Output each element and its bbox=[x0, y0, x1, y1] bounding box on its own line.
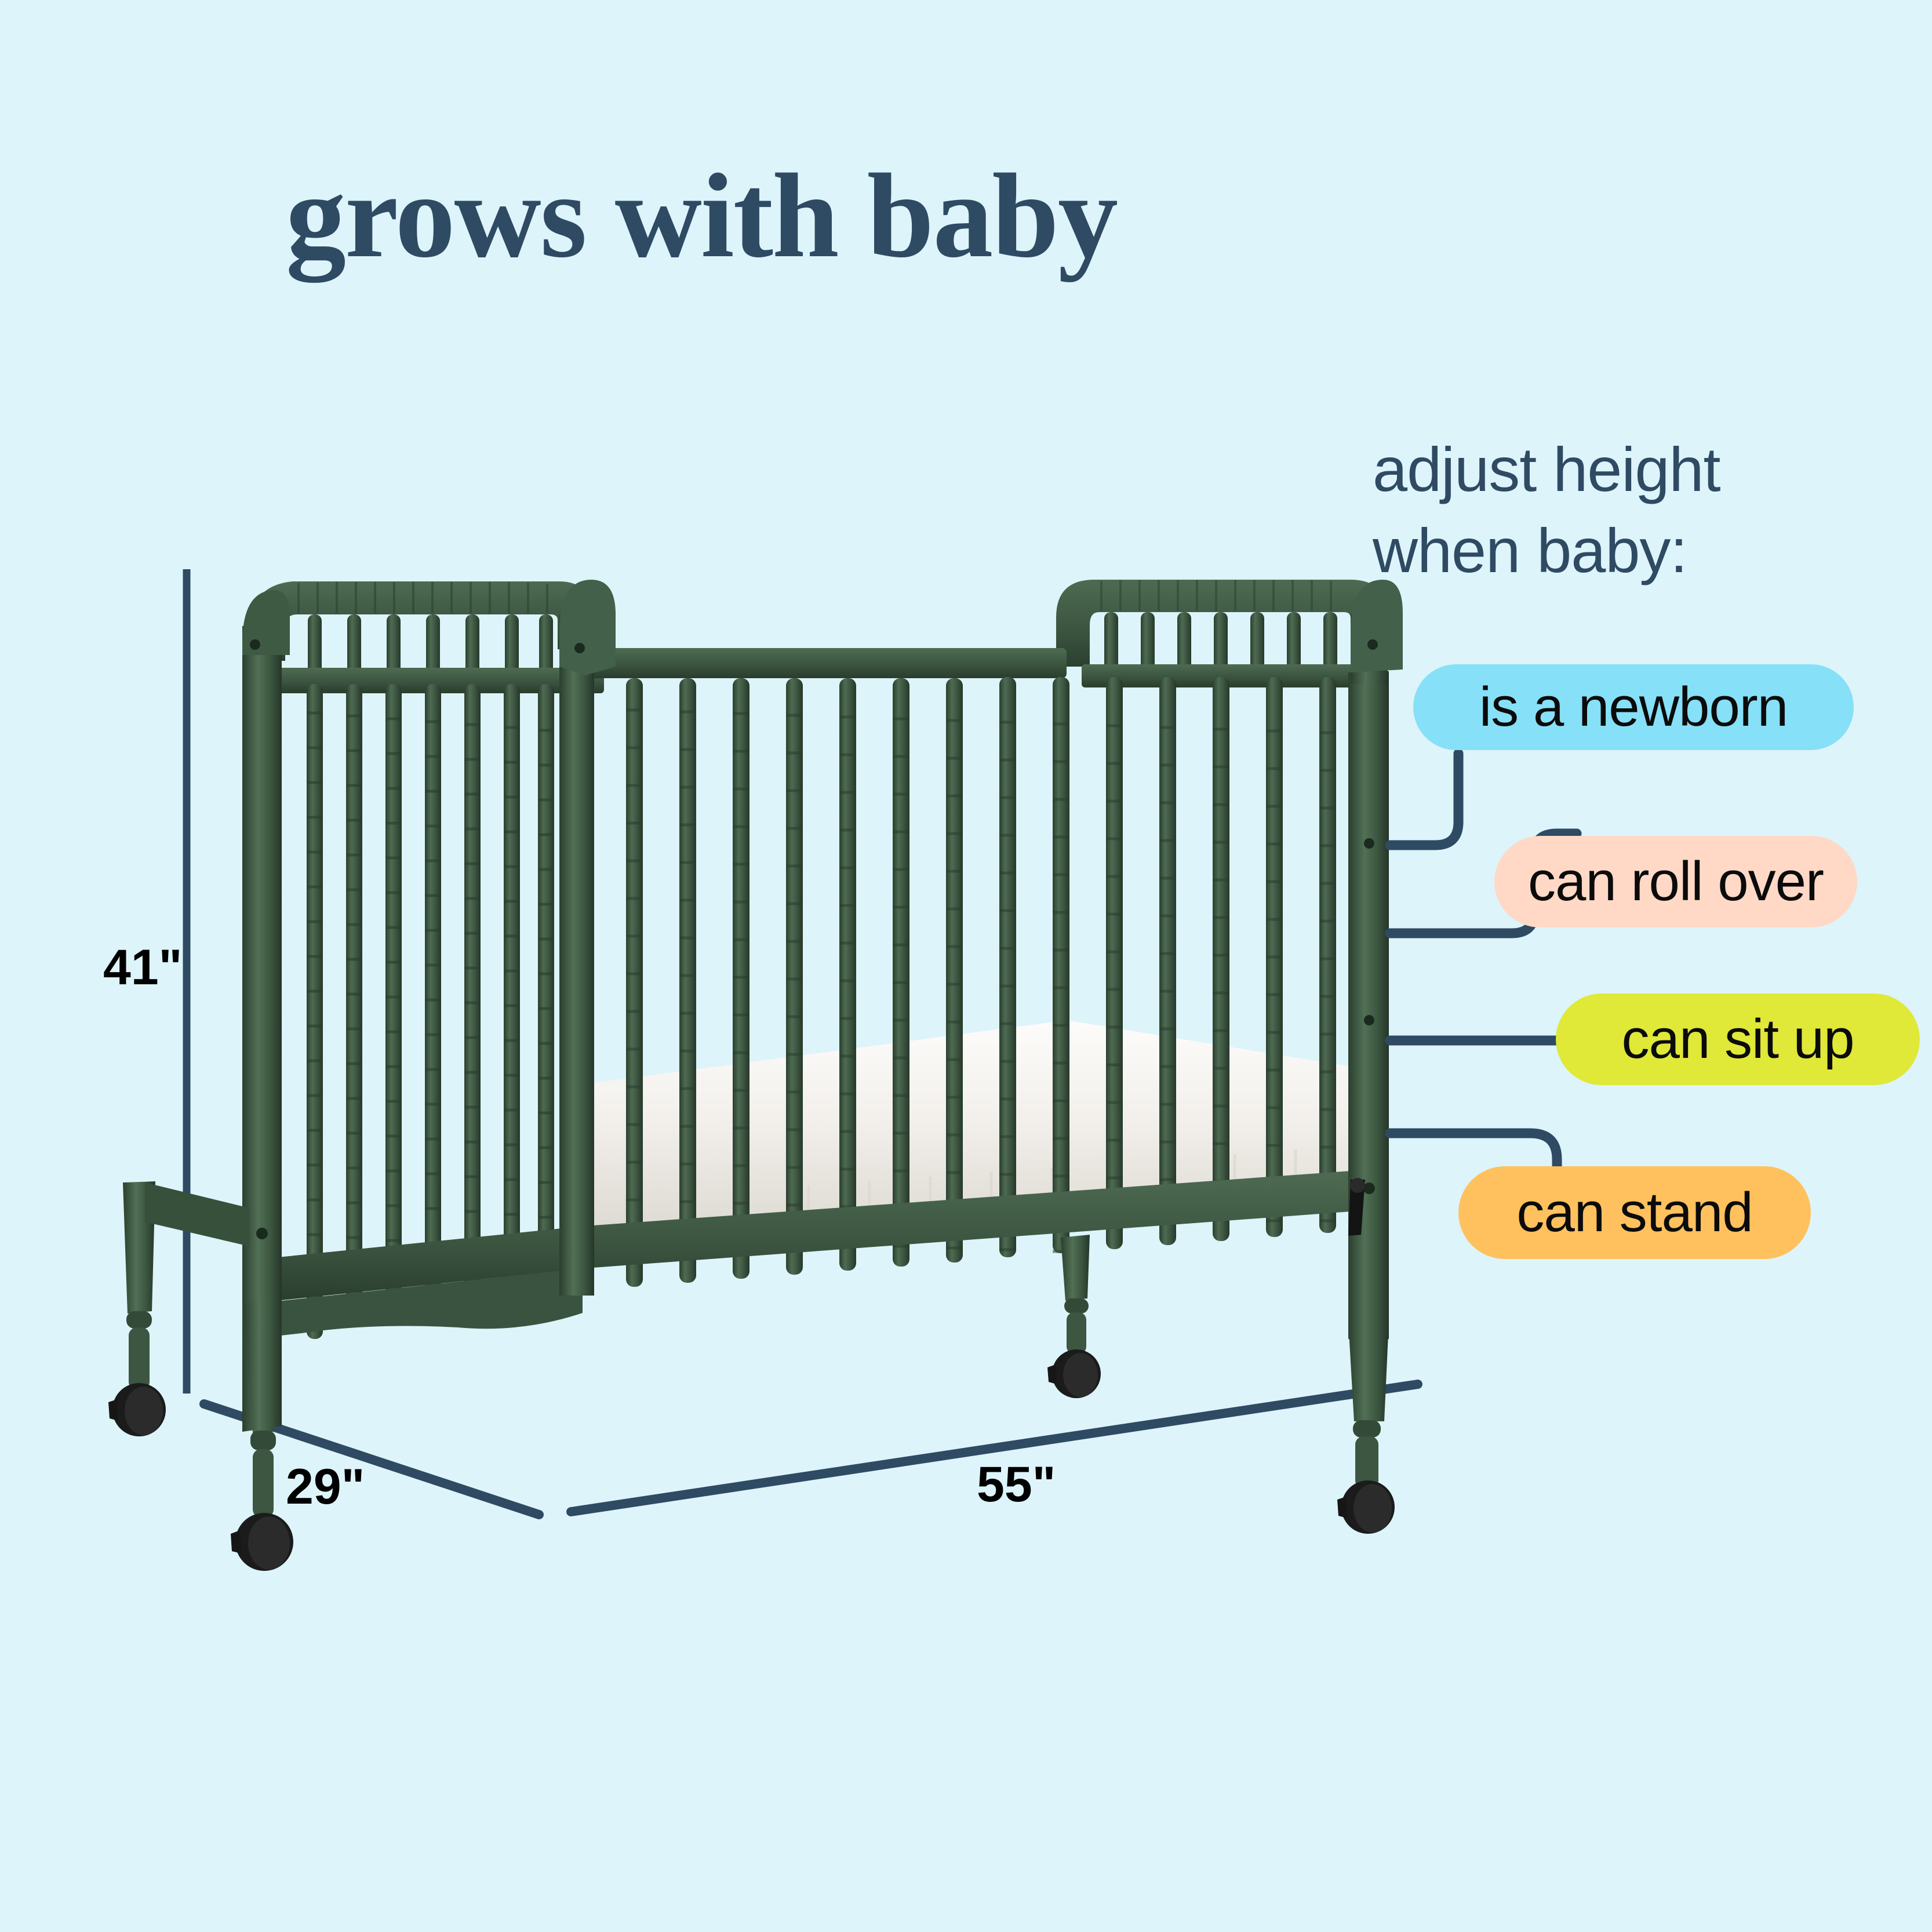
crib-back-top-rail bbox=[590, 648, 1067, 678]
pill-label: is a newborn bbox=[1479, 675, 1788, 739]
crib-post-right-front bbox=[1348, 671, 1389, 1339]
connector-newborn bbox=[1390, 754, 1458, 845]
crib-head-panel bbox=[250, 581, 604, 1339]
caster-right-front bbox=[1337, 1480, 1395, 1534]
caster-left-back bbox=[108, 1383, 166, 1436]
pill-can-stand[interactable]: can stand bbox=[1458, 1166, 1811, 1259]
infographic-canvas: grows with baby adjust height when baby: bbox=[0, 0, 1932, 1932]
crib-post-right-back bbox=[1351, 580, 1403, 684]
dimension-label-width: 55" bbox=[977, 1456, 1056, 1513]
pill-label: can stand bbox=[1516, 1181, 1752, 1245]
dimension-label-depth: 29" bbox=[286, 1458, 365, 1516]
pill-can-sit-up[interactable]: can sit up bbox=[1556, 994, 1920, 1085]
connector-lines bbox=[1390, 754, 1577, 1177]
crib-illustration bbox=[0, 0, 1932, 1932]
pill-label: can roll over bbox=[1528, 850, 1824, 914]
pill-can-roll-over[interactable]: can roll over bbox=[1494, 836, 1857, 927]
pill-is-a-newborn[interactable]: is a newborn bbox=[1413, 664, 1854, 750]
caster-left-front bbox=[231, 1513, 293, 1571]
caster-right-back bbox=[1047, 1349, 1101, 1398]
pill-label: can sit up bbox=[1622, 1007, 1854, 1071]
dimension-label-height: 41" bbox=[103, 939, 182, 996]
crib-foot-panel bbox=[1056, 580, 1387, 687]
